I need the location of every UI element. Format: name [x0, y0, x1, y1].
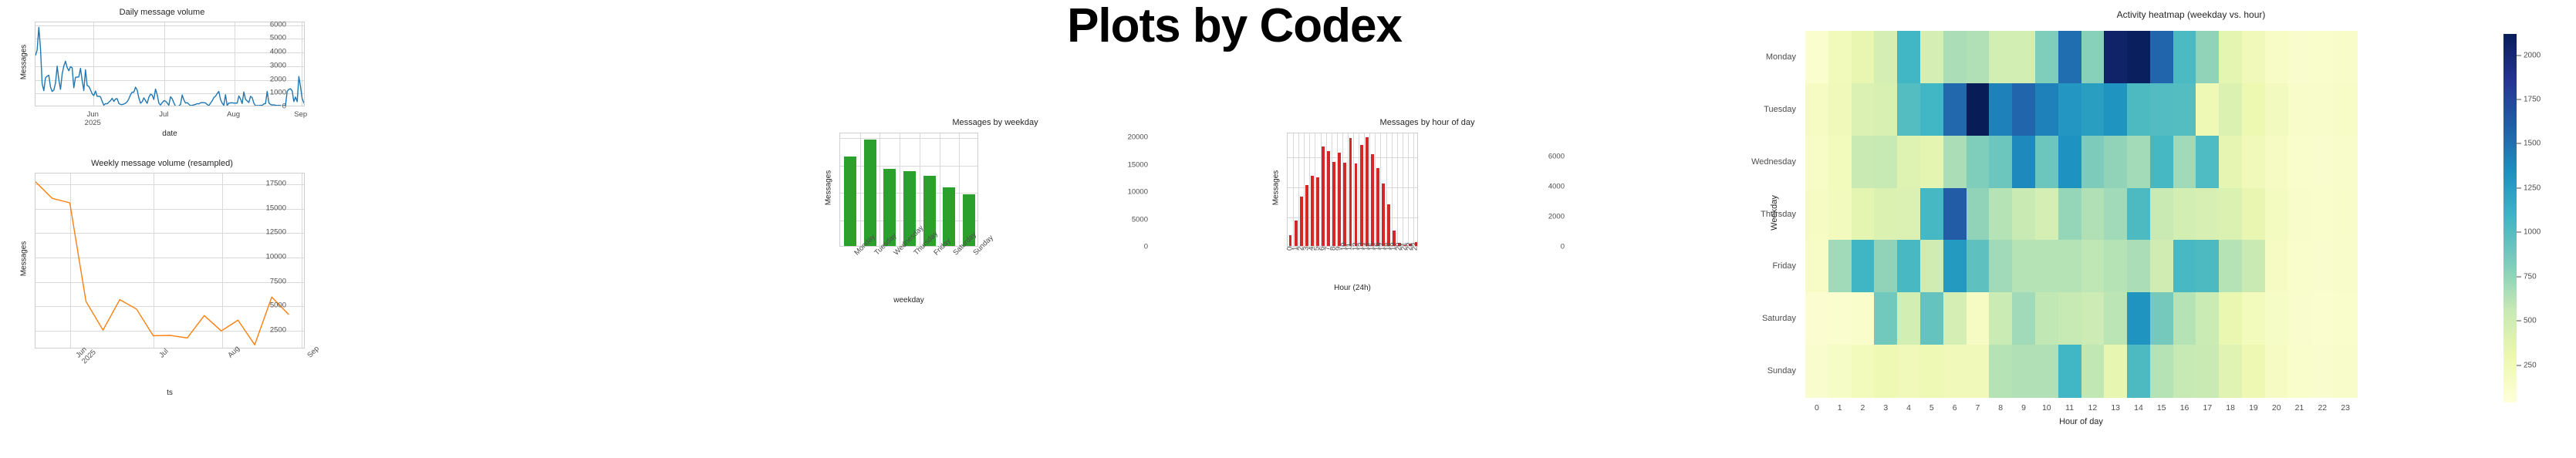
- heatmap-cell: [2334, 292, 2357, 345]
- y-axis-label: Messages: [20, 213, 29, 305]
- heatmap-cell: [1828, 83, 1852, 136]
- heatmap-cell: [2219, 240, 2242, 292]
- chart-title: Messages by hour of day: [1227, 118, 1628, 127]
- heatmap-cell: [2150, 136, 2173, 188]
- heatmap-cell: [2035, 136, 2058, 188]
- colorbar-tick-label: 750: [2524, 272, 2537, 281]
- heatmap-col-label: 3: [1883, 403, 1888, 413]
- heatmap-cell: [2127, 31, 2150, 83]
- heatmap-cell: [2334, 83, 2357, 136]
- heatmap-cell: [2196, 292, 2219, 345]
- heatmap-cell: [2104, 31, 2127, 83]
- grid-line-vertical: [1397, 133, 1398, 246]
- heatmap-cell: [1967, 83, 1990, 136]
- heatmap-col-label: 21: [2295, 403, 2304, 413]
- heatmap-row-label: Sunday: [1642, 366, 1796, 375]
- heatmap-col-label: 10: [2042, 403, 2051, 413]
- heatmap-cell: [2311, 292, 2334, 345]
- heatmap-cell: [1967, 345, 1990, 397]
- x-axis-label: date: [35, 130, 305, 138]
- heatmap-cell: [2081, 31, 2105, 83]
- heatmap-cell: [2288, 83, 2311, 136]
- heatmap-cell: [2150, 31, 2173, 83]
- heatmap-col-label: 23: [2341, 403, 2350, 413]
- heatmap-cell: [2104, 345, 2127, 397]
- heatmap-cell: [1805, 345, 1828, 397]
- y-axis-tick-label: 3000: [240, 61, 286, 69]
- heatmap-cell: [2150, 292, 2173, 345]
- plots-dashboard: Daily message volume 0100020003000400050…: [0, 0, 2576, 458]
- heatmap-cell: [1943, 83, 1967, 136]
- grid-line-vertical: [1408, 133, 1409, 246]
- heatmap-cell: [2012, 136, 2035, 188]
- grid-line-vertical: [879, 133, 880, 246]
- heatmap-cell: [1989, 136, 2012, 188]
- heatmap-cell: [2242, 136, 2265, 188]
- chart-title: Weekly message volume (resampled): [0, 159, 324, 168]
- heatmap-cell: [2173, 136, 2196, 188]
- x-axis-tick-label: Jun2025: [74, 353, 86, 365]
- y-axis-tick-label: 5000: [1102, 215, 1148, 224]
- x-axis-tick-label: Monday: [852, 251, 859, 257]
- heatmap-cell: [1967, 292, 1990, 345]
- heatmap-cell: [2081, 136, 2105, 188]
- heatmap-cell: [2081, 240, 2105, 292]
- y-axis-tick-label: 1000: [240, 89, 286, 97]
- colorbar-tick-mark: [2517, 232, 2521, 233]
- heatmap-cell: [1989, 345, 2012, 397]
- heatmap-cell: [1920, 188, 1943, 241]
- heatmap-col-label: 13: [2111, 403, 2120, 413]
- colorbar-tick-mark: [2517, 321, 2521, 322]
- heatmap-col-label: 1: [1838, 403, 1842, 413]
- heatmap-col-label: 6: [1953, 403, 1957, 413]
- bar: [844, 157, 856, 246]
- x-axis-label: Hour of day: [1805, 417, 2357, 426]
- colorbar-tick-label: 1000: [2524, 228, 2541, 237]
- heatmap-cell: [2196, 31, 2219, 83]
- heatmap-cell: [2288, 240, 2311, 292]
- plot-area: [839, 133, 978, 247]
- chart-title: Messages by weekday: [771, 118, 1219, 127]
- heatmap-cell: [1828, 292, 1852, 345]
- chart-messages-by-weekday: Messages by weekday 05000100001500020000…: [771, 116, 1219, 293]
- heatmap-cell: [2104, 188, 2127, 241]
- chart-title: Activity heatmap (weekday vs. hour): [1805, 9, 2576, 20]
- heatmap-cell: [1897, 240, 1920, 292]
- bar: [1316, 177, 1319, 246]
- heatmap-col-label: 0: [1815, 403, 1819, 413]
- heatmap-cell: [2081, 345, 2105, 397]
- colorbar-tick-label: 2000: [2524, 51, 2541, 59]
- heatmap-cell: [1805, 240, 1828, 292]
- heatmap-cell: [1897, 136, 1920, 188]
- bar: [1332, 162, 1335, 246]
- heatmap-cell: [1989, 292, 2012, 345]
- bar: [1327, 151, 1330, 246]
- heatmap-cell: [1828, 240, 1852, 292]
- heatmap-cell: [2127, 292, 2150, 345]
- heatmap-cell: [2104, 292, 2127, 345]
- heatmap-col-label: 8: [1998, 403, 2003, 413]
- heatmap-cell: [1920, 345, 1943, 397]
- heatmap-cell: [2311, 136, 2334, 188]
- heatmap-grid: [1805, 31, 2357, 397]
- heatmap-cell: [2242, 31, 2265, 83]
- heatmap-cell: [1989, 240, 2012, 292]
- colorbar-tick-mark: [2517, 55, 2521, 56]
- heatmap-cell: [2242, 188, 2265, 241]
- colorbar-tick-label: 250: [2524, 361, 2537, 369]
- heatmap-cell: [2219, 345, 2242, 397]
- heatmap-cell: [1828, 31, 1852, 83]
- heatmap-cell: [1828, 136, 1852, 188]
- y-axis-tick-label: 15000: [240, 204, 286, 212]
- heatmap-cell: [2058, 240, 2081, 292]
- y-axis-tick-label: 0: [1518, 243, 1565, 251]
- y-axis-tick-label: 0: [1102, 243, 1148, 251]
- colorbar: [2503, 34, 2517, 402]
- x-axis-tick-label: Friday: [932, 251, 938, 257]
- grid-line-vertical: [900, 133, 900, 246]
- heatmap-cell: [2288, 136, 2311, 188]
- heatmap-row-label: Saturday: [1642, 314, 1796, 323]
- heatmap-cell: [2150, 83, 2173, 136]
- heatmap-cell: [2104, 240, 2127, 292]
- page-title: Plots by Codex: [879, 0, 1589, 54]
- heatmap-cell: [2127, 83, 2150, 136]
- heatmap-cell: [1989, 83, 2012, 136]
- heatmap-cell: [1967, 240, 1990, 292]
- heatmap-cell: [2012, 31, 2035, 83]
- grid-line-vertical: [1392, 133, 1393, 246]
- heatmap-row-label: Monday: [1642, 52, 1796, 62]
- bar: [1305, 185, 1308, 246]
- heatmap-col-label: 11: [2065, 403, 2074, 413]
- bar: [1355, 163, 1358, 246]
- bar: [1322, 146, 1325, 247]
- heatmap-cell: [2173, 292, 2196, 345]
- heatmap-cell: [2058, 188, 2081, 241]
- heatmap-cell: [2012, 345, 2035, 397]
- heatmap-cell: [1920, 240, 1943, 292]
- heatmap-cell: [1920, 136, 1943, 188]
- heatmap-cell: [2173, 345, 2196, 397]
- heatmap-cell: [2196, 136, 2219, 188]
- heatmap-cell: [2288, 292, 2311, 345]
- y-axis-tick-label: 4000: [240, 48, 286, 56]
- heatmap-cell: [2334, 345, 2357, 397]
- heatmap-cell: [2242, 345, 2265, 397]
- heatmap-col-label: 18: [2226, 403, 2235, 413]
- heatmap-cell: [2081, 292, 2105, 345]
- heatmap-cell: [2127, 188, 2150, 241]
- heatmap-cell: [1874, 240, 1897, 292]
- colorbar-tick-label: 1250: [2524, 184, 2541, 192]
- chart-daily-message-volume: Daily message volume 0100020003000400050…: [0, 0, 324, 143]
- heatmap-cell: [2219, 188, 2242, 241]
- heatmap-cell: [1852, 240, 1875, 292]
- heatmap-cell: [2334, 240, 2357, 292]
- heatmap-cell: [1852, 83, 1875, 136]
- heatmap-col-label: 7: [1976, 403, 1980, 413]
- heatmap-cell: [1943, 292, 1967, 345]
- chart-title: Daily message volume: [0, 8, 324, 17]
- y-axis-tick-label: 12500: [240, 228, 286, 237]
- x-axis-label: Hour (24h): [1287, 284, 1418, 292]
- heatmap-cell: [1943, 345, 1967, 397]
- heatmap-cell: [2058, 83, 2081, 136]
- heatmap-cell: [1989, 31, 2012, 83]
- heatmap-cell: [2035, 345, 2058, 397]
- heatmap-cell: [1897, 188, 1920, 241]
- heatmap-cell: [2035, 292, 2058, 345]
- x-axis-tick-label: Jul: [157, 353, 164, 359]
- x-axis-tick-label: Sep: [270, 110, 332, 119]
- heatmap-cell: [2012, 83, 2035, 136]
- heatmap-col-label: 2: [1861, 403, 1865, 413]
- y-axis-label: Messages: [1272, 142, 1281, 234]
- heatmap-cell: [2219, 292, 2242, 345]
- x-axis-label: weekday: [839, 296, 978, 305]
- heatmap-cell: [2334, 31, 2357, 83]
- y-axis-tick-label: 6000: [240, 20, 286, 29]
- heatmap-cell: [1967, 31, 1990, 83]
- x-axis-tick-label: Thursday: [912, 251, 918, 257]
- heatmap-cell: [2150, 188, 2173, 241]
- heatmap-cell: [2196, 345, 2219, 397]
- heatmap-cell: [1874, 136, 1897, 188]
- heatmap-cell: [2081, 83, 2105, 136]
- bar: [1366, 137, 1369, 246]
- heatmap-cell: [1805, 292, 1828, 345]
- heatmap-cell: [2058, 31, 2081, 83]
- colorbar-tick-label: 1500: [2524, 140, 2541, 148]
- heatmap-col-label: 22: [2318, 403, 2327, 413]
- heatmap-cell: [1874, 83, 1897, 136]
- heatmap-cell: [1874, 188, 1897, 241]
- heatmap-cell: [1897, 292, 1920, 345]
- heatmap-cell: [1967, 188, 1990, 241]
- heatmap-cell: [1874, 292, 1897, 345]
- grid-line-vertical: [959, 133, 960, 246]
- heatmap-cell: [2035, 31, 2058, 83]
- bar: [1289, 235, 1292, 246]
- heatmap-cell: [2173, 188, 2196, 241]
- heatmap-cell: [2012, 188, 2035, 241]
- bar: [1382, 184, 1385, 246]
- heatmap-cell: [2334, 188, 2357, 241]
- heatmap-cell: [1805, 31, 1828, 83]
- grid-line-vertical: [1403, 133, 1403, 246]
- heatmap-cell: [2311, 345, 2334, 397]
- colorbar-tick-label: 1750: [2524, 96, 2541, 104]
- y-axis-tick-label: 5000: [240, 34, 286, 42]
- heatmap-cell: [1920, 31, 1943, 83]
- heatmap-cell: [2265, 83, 2288, 136]
- bar: [1300, 197, 1303, 246]
- heatmap-cell: [2035, 240, 2058, 292]
- colorbar-tick-mark: [2517, 143, 2521, 144]
- y-axis-tick-label: 10000: [1102, 188, 1148, 197]
- heatmap-cell: [2081, 188, 2105, 241]
- heatmap-cell: [2012, 240, 2035, 292]
- heatmap-cell: [1989, 188, 2012, 241]
- heatmap-cell: [2242, 83, 2265, 136]
- heatmap-cell: [1852, 345, 1875, 397]
- y-axis-label: Messages: [825, 142, 833, 234]
- heatmap-cell: [1828, 188, 1852, 241]
- heatmap-cell: [1920, 83, 1943, 136]
- heatmap-col-label: 19: [2249, 403, 2258, 413]
- y-axis-label: Weekday: [1770, 136, 1779, 290]
- heatmap-row-label: Tuesday: [1642, 105, 1796, 114]
- colorbar-tick-mark: [2517, 276, 2521, 277]
- heatmap-cell: [1943, 136, 1967, 188]
- heatmap-cell: [1943, 188, 1967, 241]
- bar: [1371, 154, 1374, 246]
- grid-line-vertical: [860, 133, 861, 246]
- heatmap-cell: [2311, 240, 2334, 292]
- heatmap-col-label: 4: [1906, 403, 1911, 413]
- heatmap-cell: [2196, 83, 2219, 136]
- heatmap-cell: [2219, 83, 2242, 136]
- bar: [1338, 153, 1341, 246]
- heatmap-cell: [2265, 31, 2288, 83]
- heatmap-col-label: 17: [2203, 403, 2213, 413]
- heatmap-col-label: 20: [2272, 403, 2281, 413]
- grid-line-vertical: [1413, 133, 1414, 246]
- heatmap-cell: [2265, 136, 2288, 188]
- x-axis-label: ts: [35, 389, 305, 397]
- heatmap-cell: [1852, 188, 1875, 241]
- heatmap-cell: [2219, 136, 2242, 188]
- heatmap-cell: [2173, 31, 2196, 83]
- x-axis-tick-label: 23: [1411, 250, 1420, 251]
- heatmap-cell: [2104, 136, 2127, 188]
- heatmap-cell: [2242, 292, 2265, 345]
- heatmap-col-label: 16: [2180, 403, 2189, 413]
- heatmap-cell: [2242, 240, 2265, 292]
- bar: [1311, 176, 1314, 246]
- bar: [864, 140, 876, 246]
- heatmap-cell: [1874, 345, 1897, 397]
- heatmap-cell: [1943, 31, 1967, 83]
- y-axis-tick-label: 5000: [240, 301, 286, 310]
- y-axis-tick-label: 10000: [240, 252, 286, 261]
- heatmap-cell: [2265, 240, 2288, 292]
- y-axis-tick-label: 2000: [240, 75, 286, 83]
- y-axis-tick-label: 2500: [240, 325, 286, 334]
- heatmap-cell: [2127, 136, 2150, 188]
- heatmap-cell: [1805, 83, 1828, 136]
- heatmap-cell: [2334, 136, 2357, 188]
- heatmap-cell: [2173, 240, 2196, 292]
- heatmap-cell: [2196, 240, 2219, 292]
- colorbar-tick-mark: [2517, 187, 2521, 188]
- heatmap-cell: [1874, 31, 1897, 83]
- heatmap-cell: [1897, 345, 1920, 397]
- heatmap-cell: [2288, 345, 2311, 397]
- colorbar-tick-mark: [2517, 99, 2521, 100]
- bar: [1295, 221, 1298, 246]
- y-axis-label: Messages: [20, 16, 29, 109]
- heatmap-cell: [2288, 31, 2311, 83]
- y-axis-tick-label: 17500: [240, 179, 286, 187]
- heatmap-cell: [1943, 240, 1967, 292]
- colorbar-tick-mark: [2517, 365, 2521, 365]
- heatmap-cell: [2058, 292, 2081, 345]
- data-series-line: [35, 173, 305, 349]
- heatmap-col-label: 5: [1929, 403, 1934, 413]
- heatmap-cell: [1852, 31, 1875, 83]
- heatmap-cell: [1967, 136, 1990, 188]
- plot-area: [1287, 133, 1418, 247]
- chart-weekly-message-volume: Weekly message volume (resampled) 250050…: [0, 151, 324, 458]
- heatmap-cell: [2311, 31, 2334, 83]
- bar: [1349, 138, 1352, 246]
- heatmap-cell: [2288, 188, 2311, 241]
- x-axis-tick-label: Jun2025: [62, 110, 123, 127]
- grid-line-vertical: [940, 133, 940, 246]
- bar: [1360, 145, 1363, 246]
- colorbar-tick-label: 500: [2524, 317, 2537, 325]
- chart-activity-heatmap: Activity heatmap (weekday vs. hour) Mond…: [1682, 0, 2576, 458]
- bar: [1376, 168, 1379, 246]
- heatmap-cell: [2127, 345, 2150, 397]
- heatmap-col-label: 9: [2021, 403, 2026, 413]
- y-axis-tick-label: 15000: [1102, 160, 1148, 169]
- grid-line-horizontal: [1288, 157, 1417, 158]
- y-axis-tick-label: 7500: [240, 277, 286, 285]
- heatmap-cell: [1920, 292, 1943, 345]
- y-axis-tick-label: 4000: [1518, 183, 1565, 191]
- x-axis-tick-label: Sunday: [971, 251, 977, 257]
- heatmap-cell: [1852, 292, 1875, 345]
- heatmap-cell: [2127, 240, 2150, 292]
- bar: [1387, 204, 1390, 246]
- heatmap-cell: [2265, 188, 2288, 241]
- x-axis-tick-label: Saturday: [952, 251, 958, 257]
- heatmap-cell: [1897, 83, 1920, 136]
- x-axis-tick-label: Aug: [203, 110, 265, 119]
- x-axis-tick-label: Jul: [133, 110, 194, 119]
- y-axis-tick-label: 2000: [1518, 213, 1565, 221]
- heatmap-cell: [2104, 83, 2127, 136]
- x-axis-tick-label: Sep: [306, 353, 312, 359]
- heatmap-cell: [2219, 31, 2242, 83]
- heatmap-cell: [2058, 345, 2081, 397]
- heatmap-cell: [2265, 292, 2288, 345]
- heatmap-cell: [2035, 188, 2058, 241]
- heatmap-cell: [1805, 188, 1828, 241]
- heatmap-cell: [1897, 31, 1920, 83]
- heatmap-cell: [2012, 292, 2035, 345]
- x-axis-tick-label: Aug: [226, 353, 232, 359]
- heatmap-cell: [2265, 345, 2288, 397]
- heatmap-col-label: 15: [2157, 403, 2166, 413]
- heatmap-cell: [2150, 345, 2173, 397]
- chart-messages-by-hour: Messages by hour of day 0200040006000012…: [1227, 116, 1628, 293]
- heatmap-cell: [2196, 188, 2219, 241]
- x-axis-tick-label: Wednesday: [893, 251, 899, 257]
- heatmap-cell: [1828, 345, 1852, 397]
- x-axis-tick-label: Tuesday: [873, 251, 879, 257]
- heatmap-cell: [2150, 240, 2173, 292]
- heatmap-cell: [1852, 136, 1875, 188]
- heatmap-cell: [2058, 136, 2081, 188]
- heatmap-col-label: 14: [2134, 403, 2143, 413]
